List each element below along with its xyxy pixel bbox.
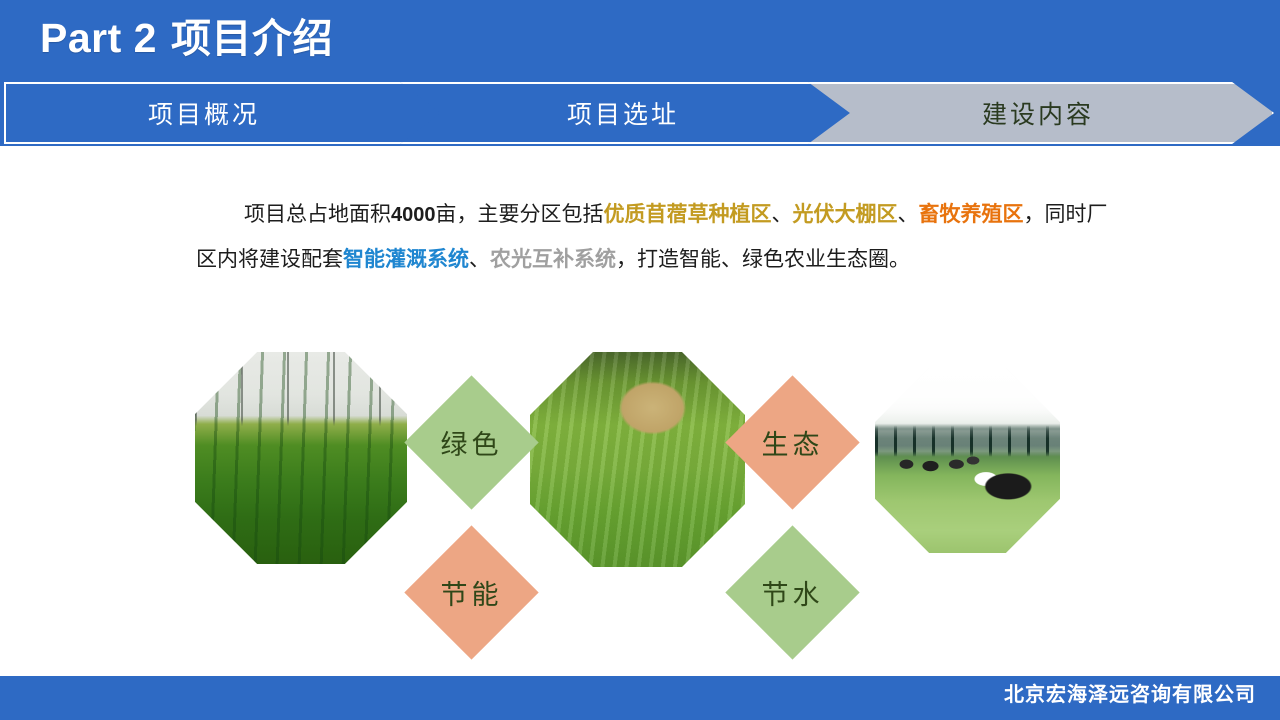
text-separator-2: 、 <box>898 202 919 226</box>
value-diamond-label: 生态 <box>745 395 840 490</box>
highlight-alfalfa-zone: 优质苜蓿草种植区 <box>604 202 772 226</box>
hay-field-image <box>530 352 745 567</box>
nav-chevron-label: 项目概况 <box>148 95 260 131</box>
page-title: Part 2项目介绍 <box>40 12 333 65</box>
page-title-cn: 项目介绍 <box>171 15 333 62</box>
text-area-value: 4000 <box>391 204 436 226</box>
nav-chevron-label: 建设内容 <box>982 95 1094 131</box>
value-diamond-label: 绿色 <box>424 395 519 490</box>
highlight-photovoltaic-greenhouse-zone: 光伏大棚区 <box>793 202 898 226</box>
photo-diamond-dairy-cattle <box>837 330 1099 592</box>
highlight-livestock-zone: 畜牧养殖区 <box>919 202 1024 226</box>
text-segment-1: 项目总占地面积 <box>244 202 391 226</box>
footer-company-name: 北京宏海泽远咨询有限公司 <box>1004 678 1256 707</box>
section-chevron-nav: 项目概况 项目选址 建设内容 <box>0 82 1280 144</box>
text-separator-1: 、 <box>772 202 793 226</box>
body-paragraph: 项目总占地面积4000亩，主要分区包括优质苜蓿草种植区、光伏大棚区、畜牧养殖区，… <box>196 192 1108 281</box>
diamond-cluster: 绿色 生态 节能 节水 <box>0 330 1280 665</box>
text-segment-4: ，打造智能、绿色农业生态圈。 <box>616 247 910 271</box>
nav-chevron-label: 项目选址 <box>567 95 679 131</box>
cattle-image-fade <box>875 368 1060 553</box>
highlight-smart-irrigation-system: 智能灌溉系统 <box>343 247 469 271</box>
value-diamond-energy-saving: 节能 <box>404 525 538 659</box>
nav-chevron-project-overview[interactable]: 项目概况 <box>4 82 444 144</box>
page-title-en: Part 2 <box>40 15 157 61</box>
text-separator-3: 、 <box>469 247 490 271</box>
nav-chevron-construction-content[interactable]: 建设内容 <box>808 82 1274 144</box>
highlight-agrivoltaic-system: 农光互补系统 <box>490 247 616 271</box>
text-segment-2: 亩，主要分区包括 <box>436 202 604 226</box>
greenhouse-frame-detail <box>195 352 407 564</box>
value-diamond-label: 节能 <box>424 545 519 640</box>
nav-chevron-site-selection[interactable]: 项目选址 <box>400 82 852 144</box>
photo-diamond-greenhouse <box>151 308 451 608</box>
value-diamond-water-saving: 节水 <box>725 525 859 659</box>
value-diamond-label: 节水 <box>745 545 840 640</box>
